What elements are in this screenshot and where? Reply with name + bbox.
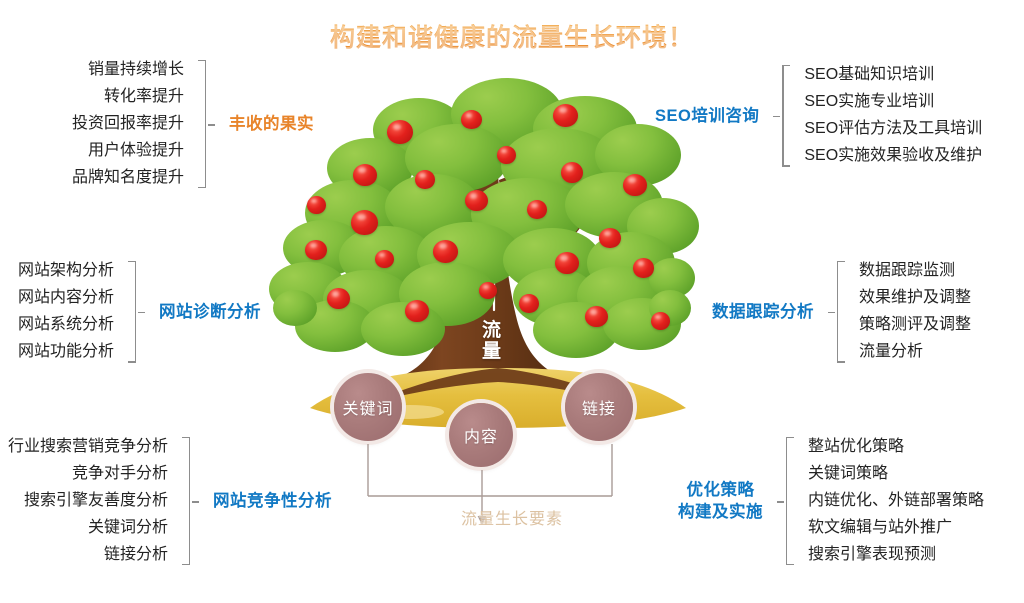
section-site-diagnosis: 网站架构分析 网站内容分析 网站系统分析 网站功能分析 网站诊断分析	[18, 258, 261, 366]
list-item: SEO基础知识培训	[804, 62, 982, 89]
list-item: 网站架构分析	[18, 258, 114, 285]
list-item: 关键词策略	[808, 461, 984, 488]
section-site-diagnosis-items: 网站架构分析 网站内容分析 网站系统分析 网站功能分析	[18, 258, 114, 366]
list-item: 策略测评及调整	[859, 312, 971, 339]
apple-icon	[307, 196, 326, 214]
apple-icon	[555, 252, 579, 274]
apple-icon	[527, 200, 547, 219]
brace-optimization	[783, 434, 794, 568]
brace-data-tracking	[834, 258, 845, 366]
list-item: 数据跟踪监测	[859, 258, 971, 285]
trunk-flow-label: 流 量	[470, 320, 514, 363]
apple-icon	[479, 282, 497, 299]
list-item: 网站内容分析	[18, 285, 114, 312]
apple-icon	[351, 210, 378, 235]
section-seo-training-items: SEO基础知识培训 SEO实施专业培训 SEO评估方法及工具培训 SEO实施效果…	[804, 62, 982, 170]
list-item: 搜索引擎表现预测	[808, 542, 984, 569]
list-item: SEO实施专业培训	[804, 89, 982, 116]
list-item: 网站功能分析	[18, 339, 114, 366]
list-item: 软文编辑与站外推广	[808, 515, 984, 542]
list-item: 销量持续增长	[72, 57, 184, 84]
list-item: 流量分析	[859, 339, 971, 366]
list-item: 网站系统分析	[18, 312, 114, 339]
brace-site-diagnosis	[128, 258, 139, 366]
list-item: SEO实施效果验收及维护	[804, 143, 982, 170]
list-item: 行业搜索营销竞争分析	[8, 434, 168, 461]
apple-icon	[599, 228, 621, 248]
category-competition[interactable]: 网站竞争性分析	[213, 490, 332, 512]
apple-icon	[651, 312, 670, 330]
list-item: 关键词分析	[8, 515, 168, 542]
section-data-tracking-items: 数据跟踪监测 效果维护及调整 策略测评及调整 流量分析	[859, 258, 971, 366]
apple-icon	[553, 104, 578, 127]
category-optimization-line1: 优化策略	[678, 479, 763, 501]
apple-icon	[353, 164, 377, 186]
category-optimization-line2: 构建及实施	[678, 501, 763, 523]
list-item: 整站优化策略	[808, 434, 984, 461]
node-link-label: 链接	[582, 395, 616, 419]
list-item: 用户体验提升	[72, 138, 184, 165]
category-seo-training[interactable]: SEO培训咨询	[655, 105, 759, 127]
apple-icon	[375, 250, 394, 268]
list-item: 链接分析	[8, 542, 168, 569]
apple-icon	[327, 288, 350, 309]
list-item: 转化率提升	[72, 84, 184, 111]
node-keyword-label: 关键词	[342, 395, 393, 419]
list-item: 投资回报率提升	[72, 111, 184, 138]
section-fruit: 销量持续增长 转化率提升 投资回报率提升 用户体验提升 品牌知名度提升 丰收的果…	[72, 57, 314, 191]
list-item: 搜索引擎友善度分析	[8, 488, 168, 515]
category-optimization[interactable]: 优化策略 构建及实施	[678, 479, 763, 524]
list-item: 内链优化、外链部署策略	[808, 488, 984, 515]
list-item: SEO评估方法及工具培训	[804, 116, 982, 143]
apple-icon	[461, 110, 482, 129]
section-data-tracking: 数据跟踪分析 数据跟踪监测 效果维护及调整 策略测评及调整 流量分析	[712, 258, 971, 366]
apple-icon	[519, 294, 539, 313]
leaf-blob	[361, 302, 445, 356]
apple-icon	[305, 240, 327, 260]
leaf-blob	[273, 290, 317, 326]
page-title: 构建和谐健康的流量生长环境！	[0, 18, 1024, 54]
apple-icon	[415, 170, 435, 189]
section-competition: 行业搜索营销竞争分析 竞争对手分析 搜索引擎友善度分析 关键词分析 链接分析 网…	[8, 434, 332, 568]
section-optimization-items: 整站优化策略 关键词策略 内链优化、外链部署策略 软文编辑与站外推广 搜索引擎表…	[808, 434, 984, 568]
category-site-diagnosis[interactable]: 网站诊断分析	[159, 301, 261, 323]
section-seo-training: SEO培训咨询 SEO基础知识培训 SEO实施专业培训 SEO评估方法及工具培训…	[655, 62, 982, 170]
list-item: 品牌知名度提升	[72, 165, 184, 192]
apple-icon	[405, 300, 429, 322]
apple-icon	[585, 306, 608, 327]
section-competition-items: 行业搜索营销竞争分析 竞争对手分析 搜索引擎友善度分析 关键词分析 链接分析	[8, 434, 168, 568]
apple-icon	[387, 120, 413, 144]
apple-icon	[623, 174, 647, 196]
trunk-char-1: 流	[470, 320, 514, 341]
section-optimization: 优化策略 构建及实施 整站优化策略 关键词策略 内链优化、外链部署策略 软文编辑…	[678, 434, 984, 568]
category-fruit[interactable]: 丰收的果实	[229, 113, 314, 135]
brace-fruit	[198, 57, 209, 191]
trunk-char-2: 量	[470, 341, 514, 362]
brace-competition	[182, 434, 193, 568]
brace-seo-training	[779, 62, 790, 170]
infographic-canvas: 构建和谐健康的流量生长环境！	[0, 0, 1024, 603]
list-item: 竞争对手分析	[8, 461, 168, 488]
category-data-tracking[interactable]: 数据跟踪分析	[712, 301, 814, 323]
section-fruit-items: 销量持续增长 转化率提升 投资回报率提升 用户体验提升 品牌知名度提升	[72, 57, 184, 191]
apple-icon	[497, 146, 516, 164]
apple-icon	[633, 258, 654, 278]
apple-icon	[465, 190, 488, 211]
list-item: 效果维护及调整	[859, 285, 971, 312]
apple-icon	[433, 240, 458, 263]
apple-icon	[561, 162, 583, 183]
